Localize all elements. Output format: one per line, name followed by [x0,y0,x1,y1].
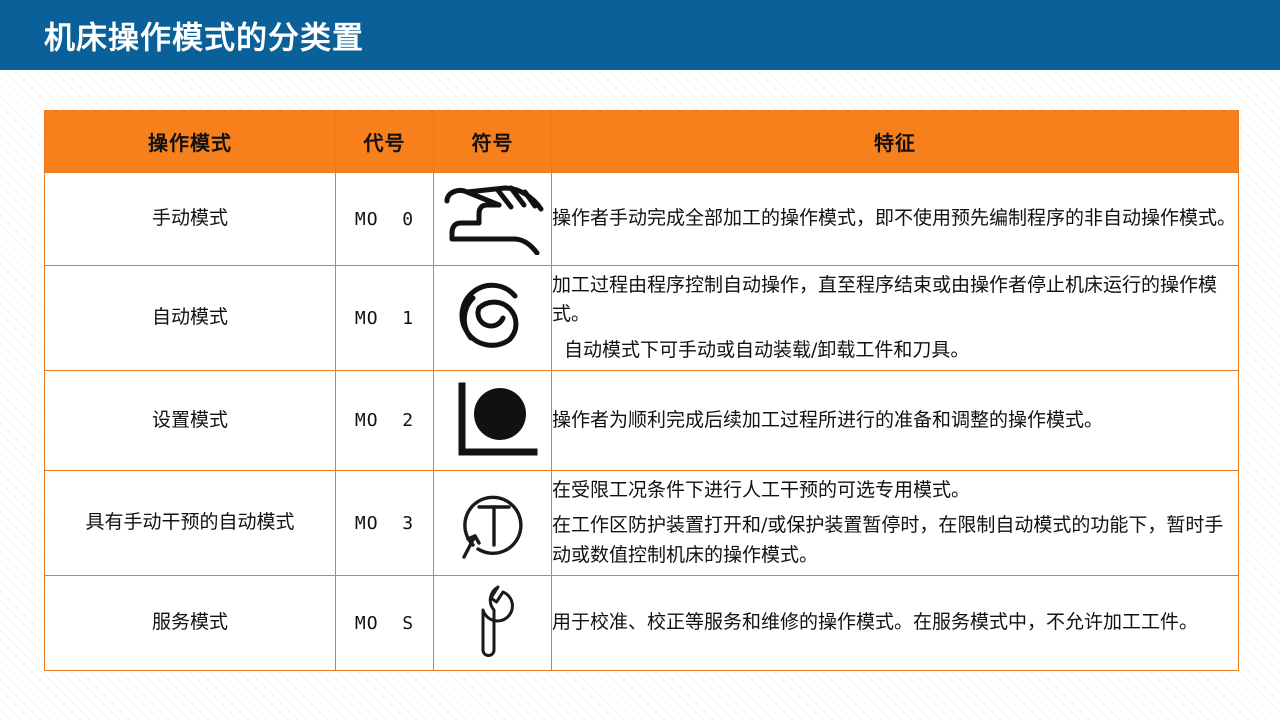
table-row: 设置模式 MO 2 操作者为顺利完成后续加工过程所进行的准备和调整的操作模式。 [45,371,1239,471]
column-header-mode: 操作模式 [45,111,336,173]
mode-name: 具有手动干预的自动模式 [45,471,336,576]
mode-code: MO 3 [336,471,434,576]
feature-line: 操作者为顺利完成后续加工过程所进行的准备和调整的操作模式。 [552,406,1238,435]
column-header-feature: 特征 [552,111,1239,173]
mode-symbol [434,576,552,671]
table-header-row: 操作模式 代号 符号 特征 [45,111,1239,173]
wrench-icon [470,584,516,662]
mode-feature: 在受限工况条件下进行人工干预的可选专用模式。 在工作区防护装置打开和/或保护装置… [552,471,1239,576]
table-row: 手动模式 MO 0 操作者手动完成全部加工的操作模式，即不使用预先 [45,173,1239,266]
column-header-code: 代号 [336,111,434,173]
mode-name: 手动模式 [45,173,336,266]
hand-icon [441,183,545,255]
mode-code: MO S [336,576,434,671]
mode-feature: 用于校准、校正等服务和维修的操作模式。在服务模式中，不允许加工工件。 [552,576,1239,671]
feature-line: 在工作区防护装置打开和/或保护装置暂停时，在限制自动模式的功能下，暂时手动或数值… [552,511,1238,570]
mode-feature: 操作者为顺利完成后续加工过程所进行的准备和调整的操作模式。 [552,371,1239,471]
operating-modes-table: 操作模式 代号 符号 特征 手动模式 MO 0 [44,110,1239,671]
mode-name: 服务模式 [45,576,336,671]
column-header-symbol: 符号 [434,111,552,173]
table-row: 自动模式 MO 1 加工过程由程序控制自动操作，直至程序结束或由操作者停止机床运… [45,266,1239,371]
mode-code: MO 2 [336,371,434,471]
mode-feature: 加工过程由程序控制自动操作，直至程序结束或由操作者停止机床运行的操作模式。 自动… [552,266,1239,371]
circle-t-arrow-icon [451,481,535,565]
mode-code: MO 1 [336,266,434,371]
table-row: 服务模式 MO S 用于校准、校正等服务和维修的操作模式。在服务模式中，不允许加… [45,576,1239,671]
mode-symbol [434,371,552,471]
feature-line: 自动模式下可手动或自动装载/卸载工件和刀具。 [552,336,1238,365]
feature-line: 加工过程由程序控制自动操作，直至程序结束或由操作者停止机床运行的操作模式。 [552,271,1238,330]
page-title: 机床操作模式的分类置 [44,13,364,58]
feature-line: 操作者手动完成全部加工的操作模式，即不使用预先编制程序的非自动操作模式。 [552,204,1238,233]
mode-name: 自动模式 [45,266,336,371]
mode-symbol [434,266,552,371]
mode-name: 设置模式 [45,371,336,471]
feature-line: 在受限工况条件下进行人工干预的可选专用模式。 [552,476,1238,505]
corner-circle-icon [448,382,538,460]
spiral-icon [453,278,533,358]
feature-line: 用于校准、校正等服务和维修的操作模式。在服务模式中，不允许加工工件。 [552,608,1238,637]
mode-symbol [434,471,552,576]
mode-feature: 操作者手动完成全部加工的操作模式，即不使用预先编制程序的非自动操作模式。 [552,173,1239,266]
title-banner: 机床操作模式的分类置 [0,0,1280,70]
mode-symbol [434,173,552,266]
table-row: 具有手动干预的自动模式 MO 3 在受限工况条件下进行人工干预的可选专用模式。 [45,471,1239,576]
mode-code: MO 0 [336,173,434,266]
